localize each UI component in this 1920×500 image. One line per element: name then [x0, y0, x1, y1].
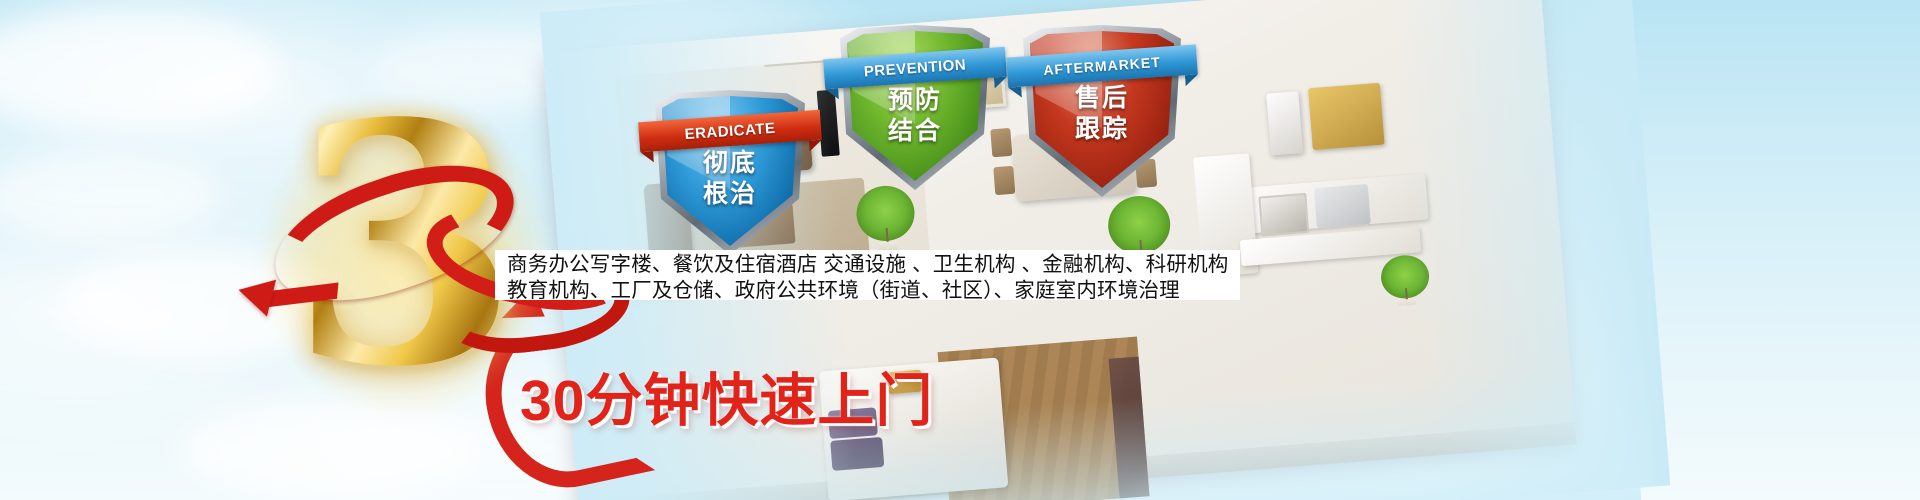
- shield-label-en: ERADICATE: [684, 119, 776, 142]
- shield-label-cn-1: 预防: [840, 85, 990, 116]
- promo-banner: 3 彻底 根治 ERADICATE 预防 结合: [0, 0, 1920, 500]
- shield-label-cn-1: 售后: [1023, 83, 1181, 114]
- kitchen-sink: [1314, 184, 1371, 228]
- pillow: [830, 437, 884, 471]
- shield-label-cn-2: 结合: [840, 116, 990, 147]
- shield-badge-aftermarket[interactable]: 售后 跟踪 AFTERMARKET: [1023, 25, 1181, 197]
- refrigerator: [1266, 91, 1303, 155]
- shield-label-cn-1: 彻底: [655, 148, 805, 179]
- shield-label-cn-2: 跟踪: [1023, 114, 1181, 145]
- shield-label-en: PREVENTION: [863, 56, 966, 80]
- shield-badge-eradicate[interactable]: 彻底 根治 ERADICATE: [655, 90, 805, 255]
- service-scope-panel: 商务办公写字楼、餐饮及住宿酒店 交通设施 、卫生机构 、金融机构、科研机构 教育…: [495, 250, 1240, 300]
- shield-badge-prevention[interactable]: 预防 结合 PREVENTION: [840, 25, 990, 190]
- oven: [1258, 193, 1309, 237]
- upper-cabinet: [1308, 83, 1385, 150]
- shield-badges-group: 彻底 根治 ERADICATE 预防 结合 PREVENTION: [645, 10, 1205, 230]
- shield-label-cn-2: 根治: [655, 179, 805, 210]
- headline-text: 30分钟快速上门: [520, 355, 933, 437]
- shield-label-en: AFTERMARKET: [1043, 54, 1161, 78]
- service-scope-line-1: 商务办公写字楼、餐饮及住宿酒店 交通设施 、卫生机构 、金融机构、科研机构: [495, 250, 1240, 278]
- service-scope-line-2: 教育机构、工厂及仓储、政府公共环境（街道、社区）、家庭室内环境治理: [495, 278, 1240, 304]
